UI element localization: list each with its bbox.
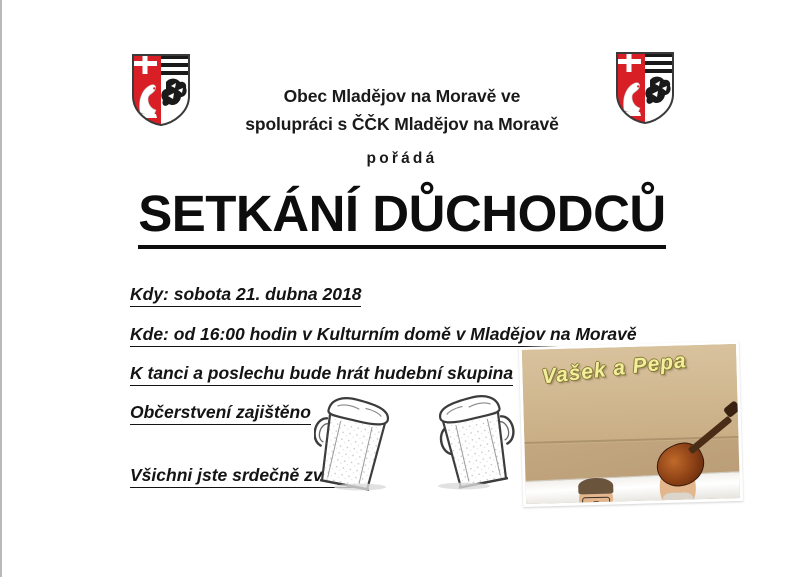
band-photo: Vašek a Pepa [519, 341, 743, 507]
photo-image: Vašek a Pepa [522, 344, 740, 504]
musician-right-beard [663, 492, 694, 504]
detail-when: Kdy: sobota 21. dubna 2018 [130, 284, 770, 307]
organizes-label: pořádá [2, 150, 800, 168]
page-title-text: SETKÁNÍ DŮCHODCŮ [138, 184, 666, 249]
glasses-icon [582, 497, 610, 504]
organizer-line-2: spolupráci s ČČK Mladějov na Moravě [2, 110, 800, 138]
musician-left-hair [578, 478, 613, 495]
photo-frame: Vašek a Pepa [519, 341, 743, 507]
header-block: Obec Mladějov na Moravě ve spolupráci s … [2, 82, 800, 168]
page-title: SETKÁNÍ DŮCHODCŮ [2, 184, 800, 249]
organizer-line-1: Obec Mladějov na Moravě ve [2, 82, 800, 110]
keyboard-instrument [522, 470, 740, 504]
poster-page: Obec Mladějov na Moravě ve spolupráci s … [0, 0, 800, 577]
beer-mugs-icon [314, 384, 519, 496]
